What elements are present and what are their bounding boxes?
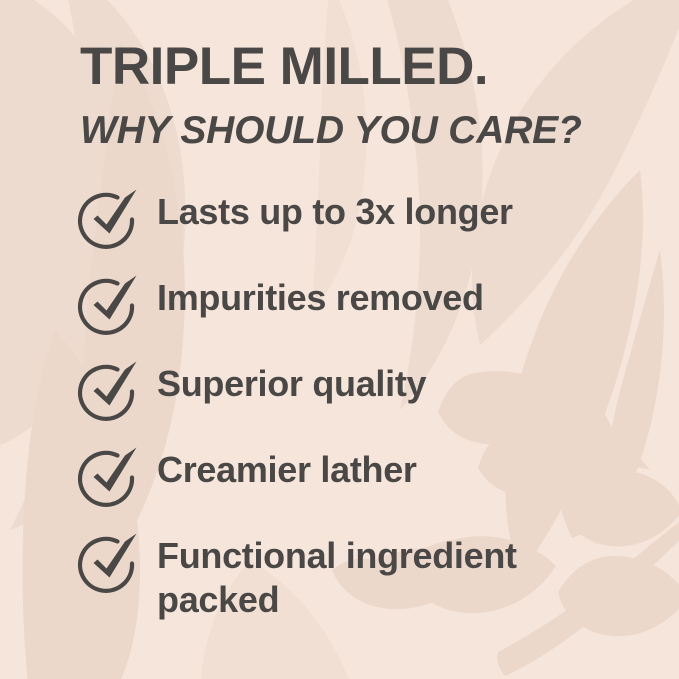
list-item: Superior quality <box>76 358 656 444</box>
check-circle-icon <box>76 446 142 508</box>
content-layer: TRIPLE MILLED. WHY SHOULD YOU CARE? Last… <box>0 0 679 679</box>
benefit-label: Lasts up to 3x longer <box>157 186 513 234</box>
benefit-label: Creamier lather <box>157 444 417 492</box>
benefit-label: Functional ingredient packed <box>157 530 575 622</box>
check-circle-icon <box>76 532 142 594</box>
page-title: TRIPLE MILLED. <box>80 40 640 93</box>
list-item: Impurities removed <box>76 272 656 358</box>
page-subtitle: WHY SHOULD YOU CARE? <box>80 111 640 150</box>
benefit-list: Lasts up to 3x longer Impurities removed <box>76 186 656 622</box>
list-item: Functional ingredient packed <box>76 530 656 622</box>
headline-block: TRIPLE MILLED. WHY SHOULD YOU CARE? <box>80 40 640 150</box>
benefit-label: Superior quality <box>157 358 426 406</box>
poster-canvas: TRIPLE MILLED. WHY SHOULD YOU CARE? Last… <box>0 0 679 679</box>
benefit-label: Impurities removed <box>157 272 484 320</box>
check-circle-icon <box>76 360 142 422</box>
list-item: Creamier lather <box>76 444 656 530</box>
check-circle-icon <box>76 188 142 250</box>
list-item: Lasts up to 3x longer <box>76 186 656 272</box>
check-circle-icon <box>76 274 142 336</box>
